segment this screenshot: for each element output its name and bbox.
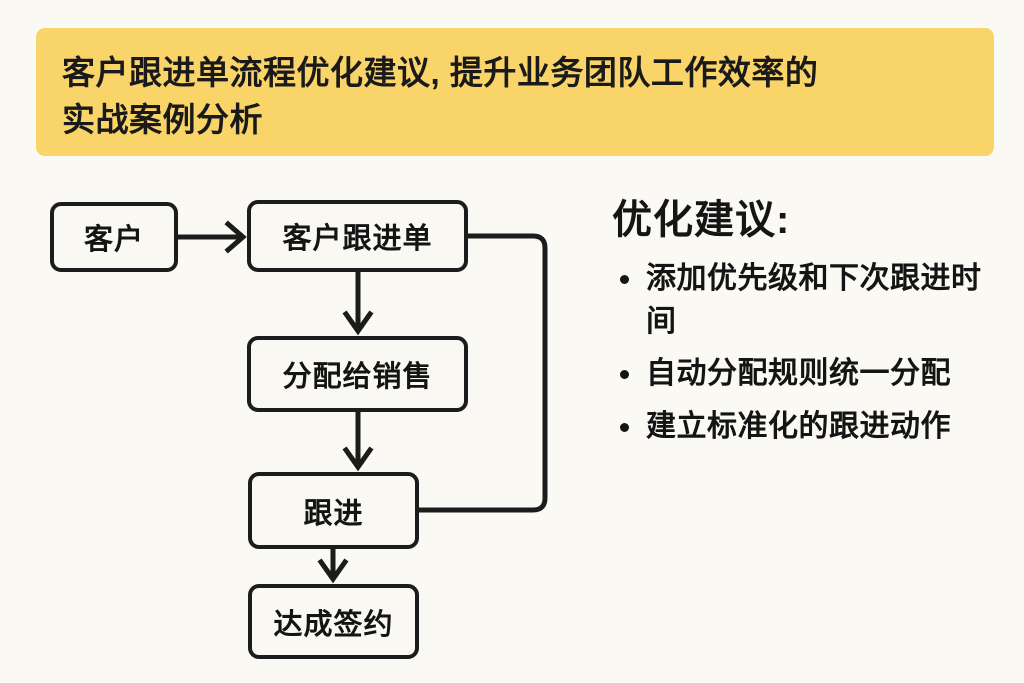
suggestions-list: 添加优先级和下次跟进时间 自动分配规则统一分配 建立标准化的跟进动作	[612, 258, 1008, 448]
flow-node-signed[interactable]: 达成签约	[248, 584, 419, 659]
flow-node-followup-form-label: 客户跟进单	[282, 215, 432, 257]
suggestion-item-label: 添加优先级和下次跟进时间	[646, 262, 982, 338]
bullet-dot-icon	[620, 423, 629, 432]
flow-node-followup-form[interactable]: 客户跟进单	[247, 200, 468, 272]
flow-node-assign-sales-label: 分配给销售	[282, 353, 432, 395]
flow-node-customer[interactable]: 客户	[50, 202, 178, 272]
suggestion-item-label: 建立标准化的跟进动作	[646, 410, 951, 443]
flow-node-signed-label: 达成签约	[273, 601, 393, 643]
bullet-dot-icon	[620, 370, 629, 379]
edge-form-to-assign	[346, 272, 370, 331]
flowchart: 客户 客户跟进单 分配给销售 跟进 达成签约	[0, 0, 600, 683]
flow-node-assign-sales[interactable]: 分配给销售	[247, 336, 468, 412]
suggestion-item: 自动分配规则统一分配	[612, 353, 1008, 396]
flow-node-customer-label: 客户	[84, 216, 144, 258]
suggestion-item-label: 自动分配规则统一分配	[646, 357, 951, 390]
suggestion-item: 添加优先级和下次跟进时间	[612, 258, 1008, 343]
edge-followup-to-signed	[321, 549, 345, 579]
suggestions-heading: 优化建议:	[612, 196, 1008, 244]
edge-customer-to-form	[178, 224, 243, 250]
suggestion-item: 建立标准化的跟进动作	[612, 406, 1008, 449]
bullet-dot-icon	[620, 275, 629, 284]
flow-node-followup[interactable]: 跟进	[248, 472, 419, 549]
edge-assign-to-followup	[346, 412, 370, 467]
flow-node-followup-label: 跟进	[303, 490, 363, 532]
suggestions-panel: 优化建议: 添加优先级和下次跟进时间 自动分配规则统一分配 建立标准化的跟进动作	[612, 196, 1008, 458]
